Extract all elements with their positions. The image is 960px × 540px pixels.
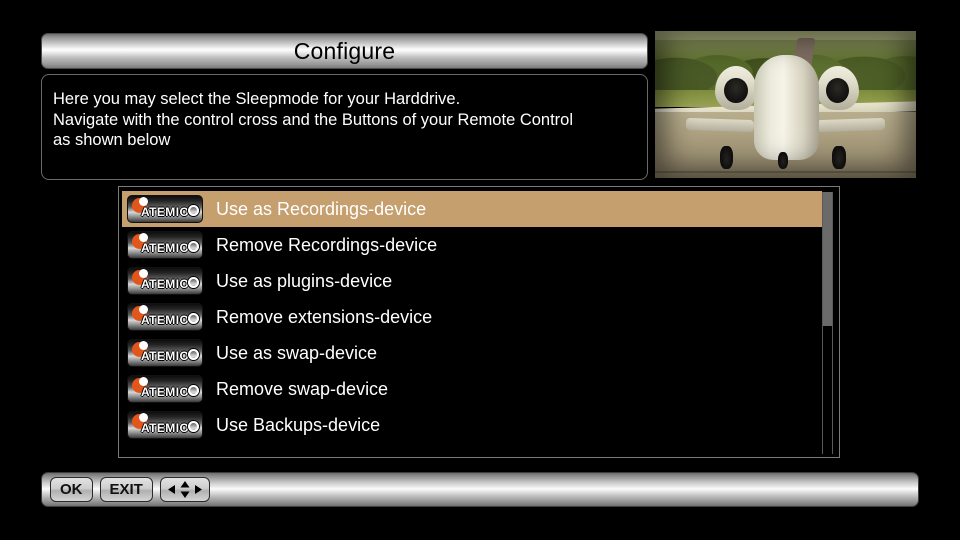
dpad-button[interactable]: [160, 477, 210, 502]
atemio-ring-icon: [188, 205, 199, 216]
atemio-logo-icon: ATEMIO: [127, 267, 203, 295]
aircraft-engine-left: [715, 66, 757, 110]
atemio-ring-icon: [188, 277, 199, 288]
aircraft-fuselage: [754, 55, 819, 161]
atemio-ring-icon: [188, 421, 199, 432]
list-item[interactable]: ATEMIORemove extensions-device: [122, 299, 822, 335]
engine-intake-left: [724, 78, 747, 104]
scrollbar-thumb[interactable]: [823, 192, 832, 326]
list-items-container: ATEMIOUse as Recordings-deviceATEMIORemo…: [122, 191, 822, 443]
atemio-logo-icon: ATEMIO: [127, 375, 203, 403]
title-bar: Configure: [41, 33, 648, 69]
atemio-wordmark: ATEMIO: [141, 421, 189, 435]
bottom-button-bar: OK EXIT: [41, 472, 919, 507]
atemio-logo-icon: ATEMIO: [127, 195, 203, 223]
atemio-wordmark: ATEMIO: [141, 205, 189, 219]
description-line-3: as shown below: [53, 130, 635, 151]
list-item[interactable]: ATEMIORemove swap-device: [122, 371, 822, 407]
list-item[interactable]: ATEMIOUse as plugins-device: [122, 263, 822, 299]
atemio-wordmark: ATEMIO: [141, 241, 189, 255]
atemio-ring-icon: [188, 349, 199, 360]
list-item-label: Remove swap-device: [216, 379, 388, 400]
atemio-ring-icon: [188, 385, 199, 396]
atemio-wordmark: ATEMIO: [141, 385, 189, 399]
atemio-wordmark: ATEMIO: [141, 349, 189, 363]
page-title: Configure: [294, 38, 396, 65]
scrollbar-track[interactable]: [822, 192, 833, 454]
list-item-label: Use Backups-device: [216, 415, 380, 436]
ok-button[interactable]: OK: [50, 477, 93, 502]
device-options-list[interactable]: ATEMIOUse as Recordings-deviceATEMIORemo…: [118, 186, 840, 458]
engine-intake-right: [826, 78, 849, 104]
aircraft-engine-right: [817, 66, 859, 110]
landing-gear-right: [832, 146, 845, 170]
video-preview[interactable]: [655, 31, 916, 178]
list-item[interactable]: ATEMIOUse Backups-device: [122, 407, 822, 443]
atemio-logo-icon: ATEMIO: [127, 411, 203, 439]
description-line-2: Navigate with the control cross and the …: [53, 110, 635, 131]
list-item[interactable]: ATEMIORemove Recordings-device: [122, 227, 822, 263]
atemio-logo-icon: ATEMIO: [127, 339, 203, 367]
ok-button-label: OK: [60, 481, 83, 498]
atemio-ring-icon: [188, 313, 199, 324]
exit-button[interactable]: EXIT: [100, 477, 153, 502]
video-scene-image: [655, 31, 916, 178]
list-item-label: Remove Recordings-device: [216, 235, 437, 256]
list-item-label: Use as swap-device: [216, 343, 377, 364]
description-line-1: Here you may select the Sleepmode for yo…: [53, 89, 635, 110]
list-item-label: Use as Recordings-device: [216, 199, 426, 220]
list-item[interactable]: ATEMIOUse as Recordings-device: [122, 191, 822, 227]
landing-gear-nose: [778, 152, 788, 170]
exit-button-label: EXIT: [110, 481, 143, 498]
description-panel: Here you may select the Sleepmode for yo…: [41, 74, 648, 180]
landing-gear-left: [720, 146, 733, 170]
tv-settings-screen: Configure Here you may select the Sleepm…: [0, 0, 960, 540]
tarmac-line: [655, 171, 916, 173]
atemio-logo-icon: ATEMIO: [127, 303, 203, 331]
atemio-wordmark: ATEMIO: [141, 313, 189, 327]
atemio-ring-icon: [188, 241, 199, 252]
list-item-label: Remove extensions-device: [216, 307, 432, 328]
list-item[interactable]: ATEMIOUse as swap-device: [122, 335, 822, 371]
atemio-wordmark: ATEMIO: [141, 277, 189, 291]
atemio-logo-icon: ATEMIO: [127, 231, 203, 259]
list-item-label: Use as plugins-device: [216, 271, 392, 292]
dpad-arrows-icon: [168, 481, 202, 498]
